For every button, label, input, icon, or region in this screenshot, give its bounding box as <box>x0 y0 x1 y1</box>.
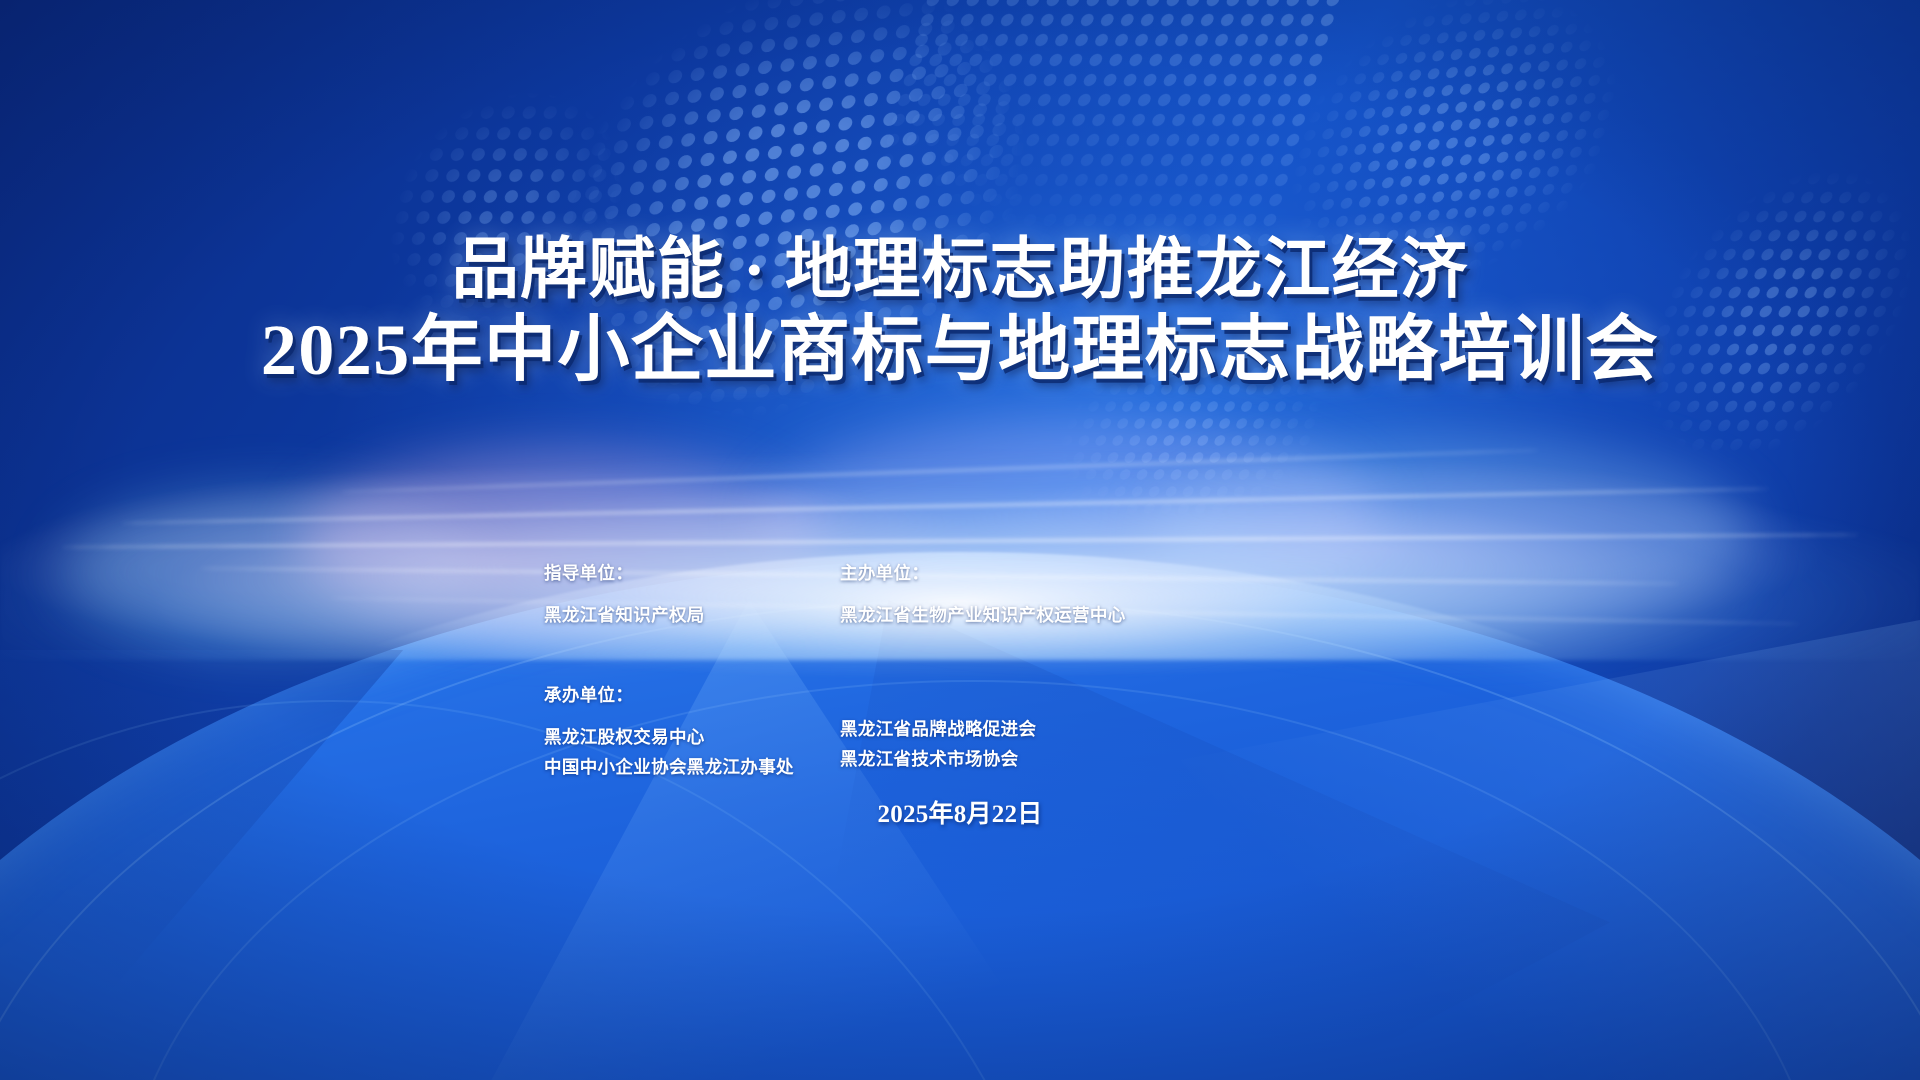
organizer-item: 黑龙江股权交易中心 <box>544 723 840 752</box>
organizer-label: 承办单位： <box>544 682 840 707</box>
event-date: 2025年8月22日 <box>0 794 1920 830</box>
vignette-overlay <box>0 0 1920 1080</box>
wave-glow <box>60 490 480 650</box>
event-banner: 品牌赋能 · 地理标志助推龙江经济 2025年中小企业商标与地理标志战略培训会 … <box>0 0 1920 1080</box>
column-spacer <box>544 630 840 682</box>
column-spacer <box>840 630 1364 682</box>
host-label: 主办单位： <box>840 560 1364 585</box>
light-streak <box>120 488 1770 525</box>
organizer-item: 中国中小企业协会黑龙江办事处 <box>544 753 840 782</box>
co-organizer-item: 黑龙江省品牌战略促进会 <box>840 715 1364 744</box>
headline-line-2: 2025年中小企业商标与地理标志战略培训会 <box>0 310 1920 391</box>
host-item: 黑龙江省生物产业知识产权运营中心 <box>840 601 1364 630</box>
column-spacer <box>840 682 1364 715</box>
host-column: 主办单位： 黑龙江省生物产业知识产权运营中心 黑龙江省品牌战略促进会 黑龙江省技… <box>840 560 1364 782</box>
background-wedge <box>0 650 560 1080</box>
light-streak <box>340 449 1539 493</box>
co-organizer-item: 黑龙江省技术市场协会 <box>840 745 1364 774</box>
organizers-block: 指导单位： 黑龙江省知识产权局 承办单位： 黑龙江股权交易中心 中国中小企业协会… <box>544 560 1364 782</box>
headline-line-1: 品牌赋能 · 地理标志助推龙江经济 <box>0 236 1920 306</box>
guidance-item: 黑龙江省知识产权局 <box>544 601 840 630</box>
headline-block: 品牌赋能 · 地理标志助推龙江经济 2025年中小企业商标与地理标志战略培训会 <box>0 236 1920 390</box>
guidance-label: 指导单位： <box>544 560 840 585</box>
guidance-column: 指导单位： 黑龙江省知识产权局 承办单位： 黑龙江股权交易中心 中国中小企业协会… <box>544 560 840 782</box>
light-streak <box>60 534 1860 549</box>
